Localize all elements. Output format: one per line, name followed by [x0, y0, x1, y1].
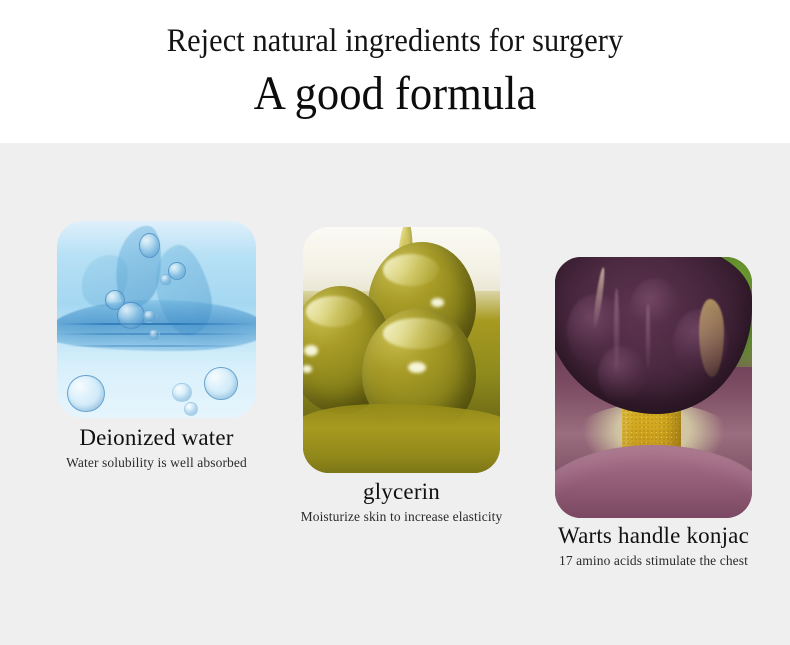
- konjac-flower-image: [555, 257, 752, 518]
- card-title: glycerin: [252, 477, 552, 506]
- card-caption: glycerin Moisturize skin to increase ela…: [252, 477, 552, 526]
- ingredient-infographic-page: Reject natural ingredients for surgery A…: [0, 0, 790, 645]
- card-subtitle: 17 amino acids stimulate the chest: [504, 551, 790, 570]
- header-band: Reject natural ingredients for surgery A…: [0, 0, 790, 143]
- page-headline: Reject natural ingredients for surgery: [32, 20, 759, 62]
- card-caption: Warts handle konjac 17 amino acids stimu…: [504, 521, 790, 570]
- page-subheadline: A good formula: [28, 64, 763, 124]
- olives-with-oil-image: [303, 227, 500, 473]
- card-subtitle: Water solubility is well absorbed: [7, 453, 307, 472]
- card-caption: Deionized water Water solubility is well…: [7, 423, 307, 472]
- card-title: Deionized water: [7, 423, 307, 452]
- water-splash-image: [57, 221, 256, 418]
- card-title: Warts handle konjac: [504, 521, 790, 550]
